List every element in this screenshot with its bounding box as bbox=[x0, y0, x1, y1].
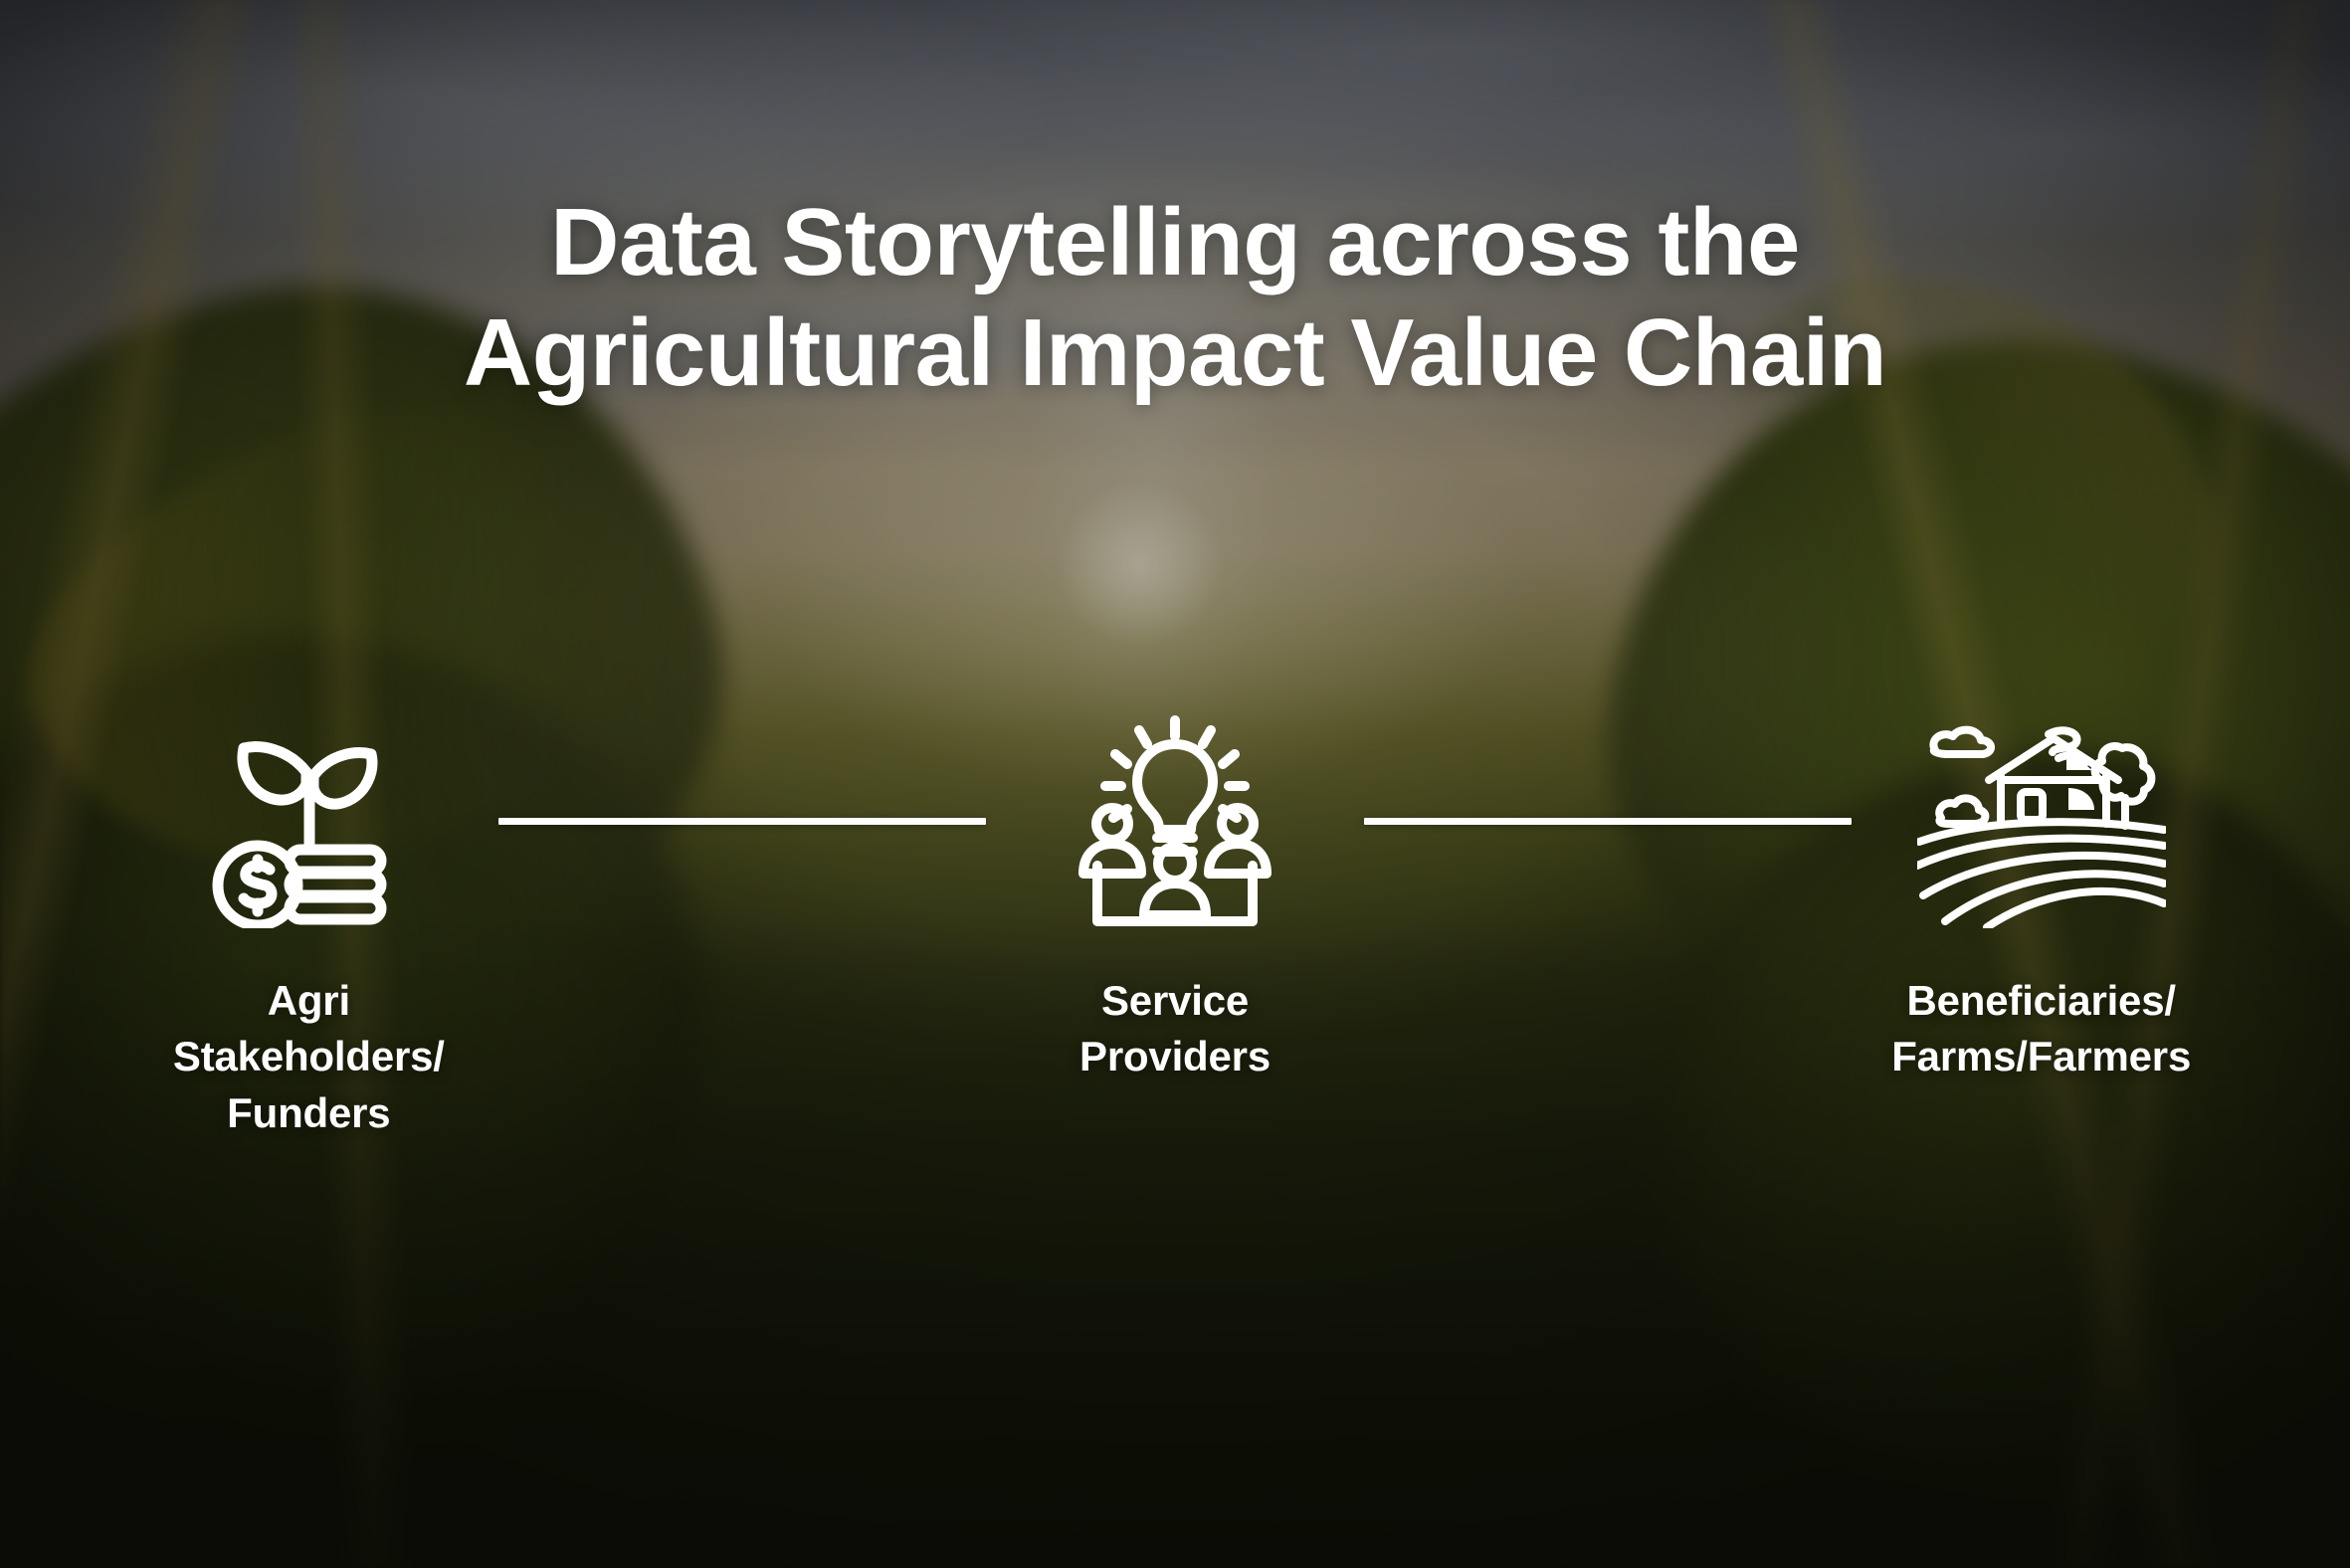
horizontal-line-connector-icon bbox=[1364, 818, 1852, 825]
page-title: Data Storytelling across the Agricultura… bbox=[0, 187, 2350, 409]
title-line-2: Agricultural Impact Value Chain bbox=[119, 297, 2231, 408]
money-plant-coins-icon bbox=[204, 696, 413, 945]
title-line-1: Data Storytelling across the bbox=[119, 187, 2231, 297]
chain-stage-label: Service Providers bbox=[1079, 973, 1271, 1085]
value-chain-diagram: Agri Stakeholders/ Funders bbox=[119, 696, 2231, 1141]
chain-stage-label: Beneficiaries/ Farms/Farmers bbox=[1891, 973, 2191, 1085]
chain-stage-label: Agri Stakeholders/ Funders bbox=[173, 973, 445, 1141]
chain-stage-beneficiaries-farms-farmers[interactable]: Beneficiaries/ Farms/Farmers bbox=[1852, 696, 2231, 1085]
lightbulb-people-team-icon bbox=[1076, 696, 1274, 945]
slide-canvas: Data Storytelling across the Agricultura… bbox=[0, 0, 2350, 1568]
chain-connector-2 bbox=[1364, 696, 1852, 945]
chain-connector-1 bbox=[498, 696, 986, 945]
horizontal-line-connector-icon bbox=[498, 818, 986, 825]
chain-stage-service-providers[interactable]: Service Providers bbox=[986, 696, 1365, 1085]
chain-stage-agri-stakeholders-funders[interactable]: Agri Stakeholders/ Funders bbox=[119, 696, 498, 1141]
farm-house-field-icon bbox=[1917, 696, 2166, 945]
